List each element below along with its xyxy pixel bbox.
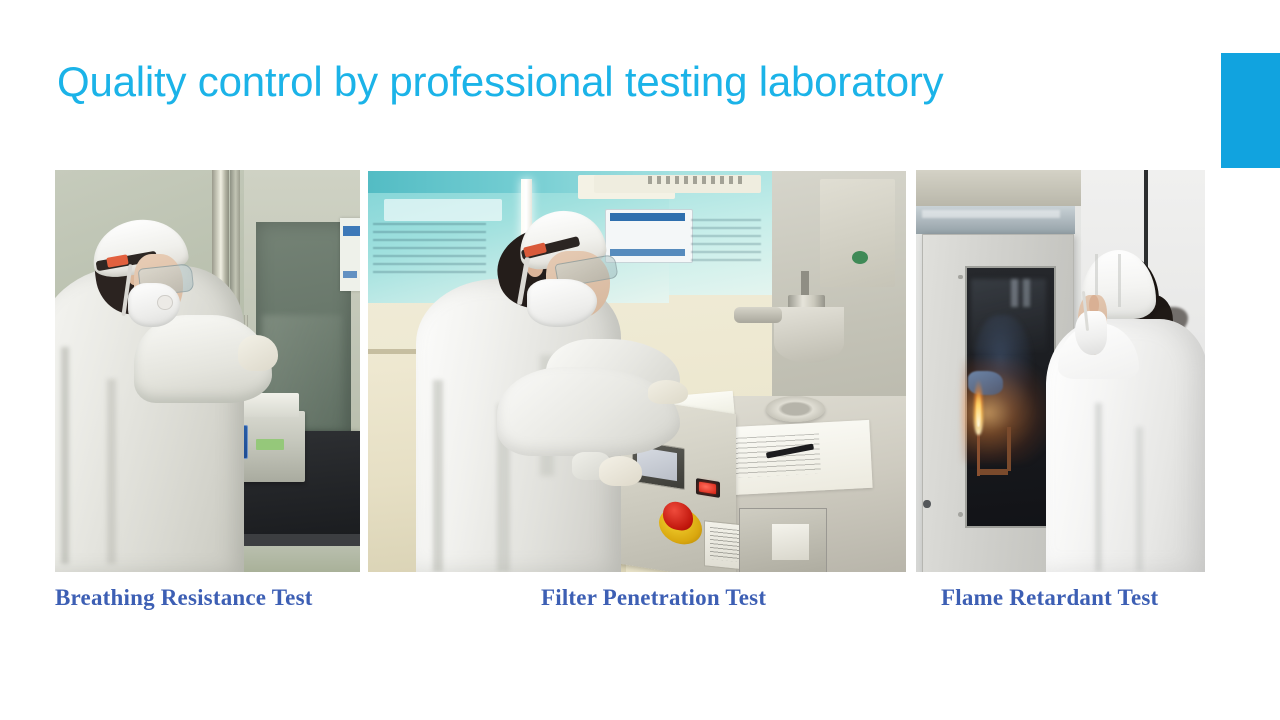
technician-gloved-hand	[238, 335, 278, 371]
burner-arm-horizontal	[977, 469, 1009, 474]
machine-door-window	[772, 524, 810, 560]
flame-core	[976, 391, 981, 427]
board-text-block	[373, 223, 486, 275]
slide-canvas: Quality control by professional testing …	[0, 0, 1280, 720]
board-text-block	[691, 219, 761, 267]
cap-pleat	[1118, 254, 1121, 306]
tester-indicator-strip	[256, 439, 283, 449]
board-heading-panel	[384, 199, 502, 221]
coat-fold	[433, 380, 444, 572]
technician-gloved-hand-lower	[599, 456, 642, 486]
decorative-accent-block	[1221, 53, 1280, 168]
machine-cone-shade	[774, 307, 844, 363]
wall-sign-text	[648, 176, 745, 184]
respirator-valve	[157, 295, 173, 311]
caption-flame-retardant: Flame Retardant Test	[941, 585, 1158, 611]
board-chart-footer	[610, 249, 685, 255]
machine-upper-panel	[820, 179, 895, 287]
coat-fold	[107, 379, 116, 564]
ceiling-beam	[916, 170, 1081, 206]
machine-flex-tube	[734, 307, 782, 323]
technician-gloved-hand-upper	[648, 380, 688, 404]
photo-breathing-resistance	[55, 170, 360, 572]
page-title: Quality control by professional testing …	[57, 58, 1157, 106]
photo-flame-retardant	[916, 170, 1205, 572]
chamber-hinge	[958, 512, 963, 517]
chamber-hinge	[958, 275, 963, 280]
wall-notice-header	[343, 226, 360, 236]
caption-breathing-resistance: Breathing Resistance Test	[55, 585, 313, 611]
test-specimen	[968, 371, 1003, 395]
duct-highlight	[922, 210, 1061, 218]
board-chart-header	[610, 213, 685, 221]
chamber-knob	[923, 500, 931, 509]
photo-filter-penetration	[368, 171, 906, 572]
coat-fold	[61, 347, 69, 564]
coat-fold	[1095, 403, 1102, 572]
sample-holder-ring	[766, 396, 825, 422]
window-reflection-bar	[1023, 279, 1030, 307]
face-mask	[1075, 311, 1107, 355]
wall-notice-footer	[343, 271, 357, 278]
burner-arm-upright	[1007, 427, 1011, 471]
caption-filter-penetration: Filter Penetration Test	[541, 585, 766, 611]
coat-fold	[1136, 427, 1144, 572]
window-reflection-bar	[1011, 279, 1018, 307]
burner-nozzle	[977, 431, 981, 475]
